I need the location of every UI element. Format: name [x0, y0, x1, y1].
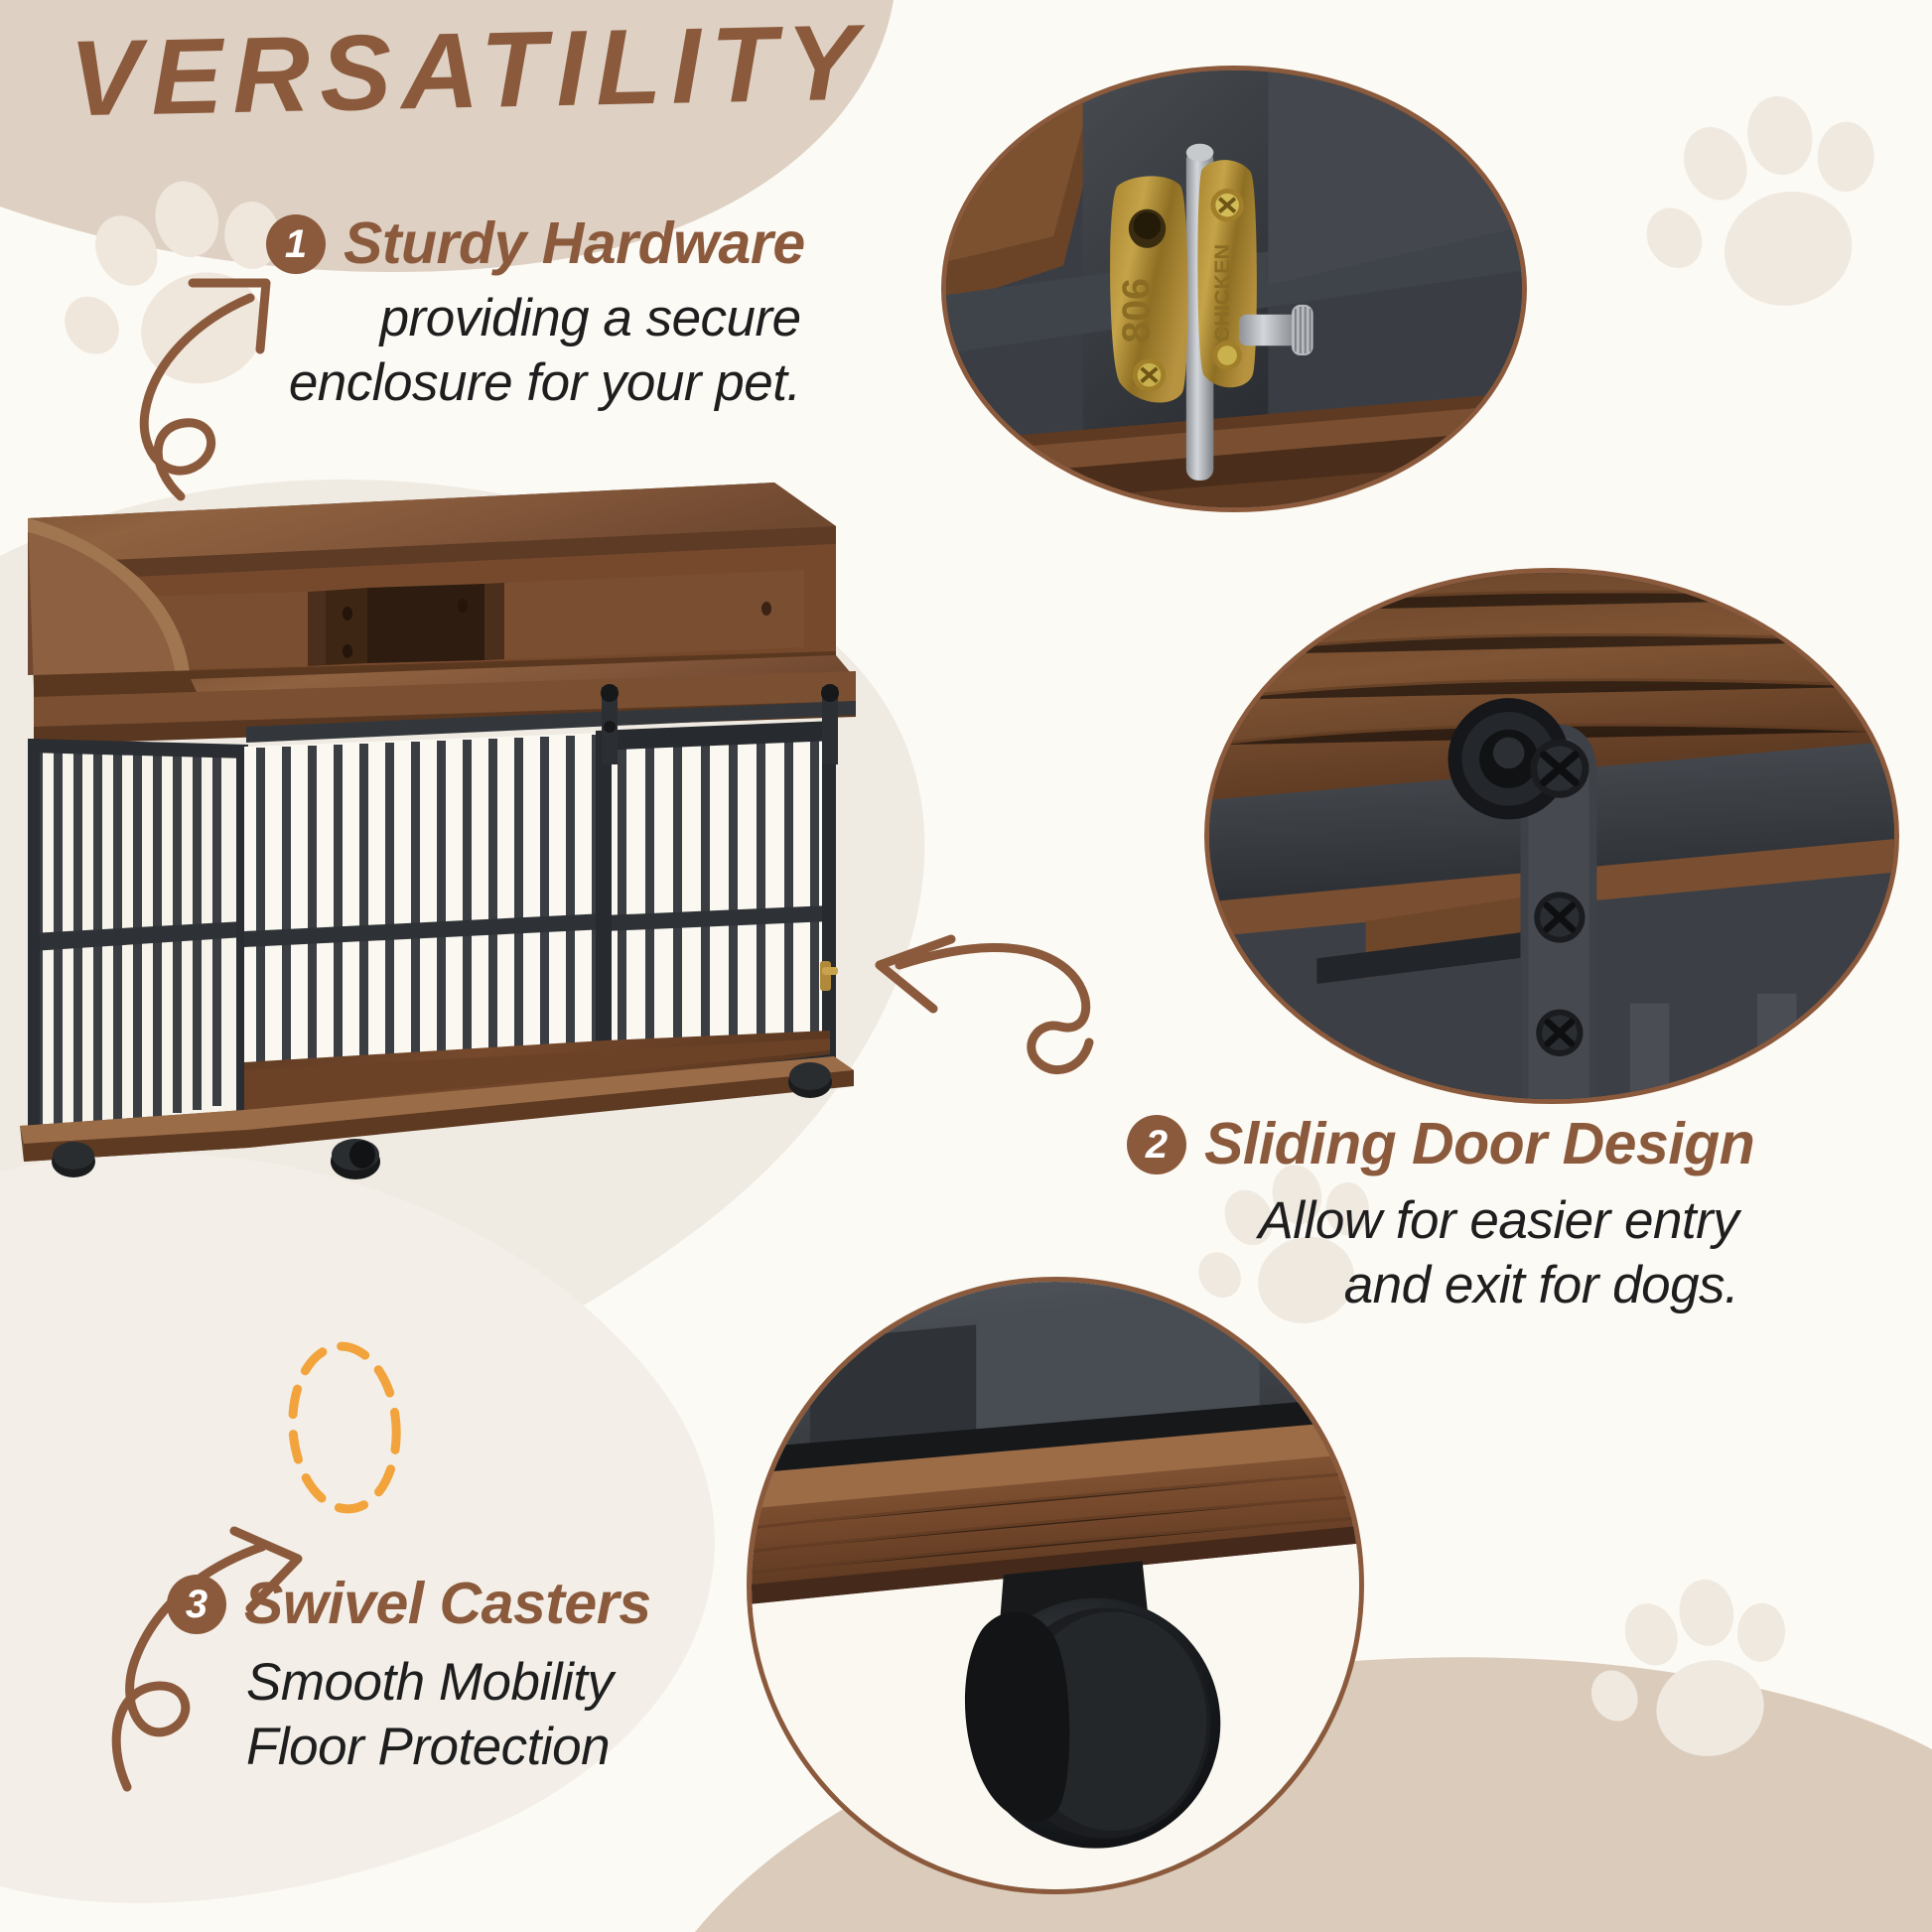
feature-block-3: 3 Swivel Casters Smooth Mobility Floor P… [167, 1574, 651, 1779]
feature-3-heading: 3 Swivel Casters [167, 1574, 651, 1635]
feature-1-body: providing a secure enclosure for your pe… [266, 287, 805, 415]
photo-sturdy-hardware: 806 CHICKEN [941, 66, 1527, 512]
feature-3-body-line-1: Smooth Mobility [246, 1651, 651, 1716]
feature-3-body: Smooth Mobility Floor Protection [167, 1651, 651, 1779]
photo-sliding-door [1204, 568, 1899, 1104]
roller-closeup-illustration [1209, 573, 1894, 1101]
caster-wheel [331, 1139, 380, 1179]
infographic-canvas: VERSATILITY 1 Sturdy Hardware providing … [0, 0, 1932, 1932]
caster-closeup-illustration [752, 1282, 1359, 1889]
product-image-dog-crate [10, 467, 864, 1191]
hinge-closeup-illustration: 806 CHICKEN [946, 70, 1522, 509]
page-title: VERSATILITY [69, 0, 869, 140]
feature-2-title: Sliding Door Design [1204, 1114, 1754, 1175]
feature-3-body-line-2: Floor Protection [246, 1716, 651, 1780]
caster-wheel [788, 1062, 832, 1098]
feature-3-number-badge: 3 [167, 1575, 226, 1634]
feature-2-heading: 2 Sliding Door Design [1127, 1114, 1754, 1175]
feature-3-title: Swivel Casters [244, 1574, 651, 1635]
svg-text:CHICKEN: CHICKEN [1209, 244, 1234, 342]
feature-1-body-line-2: enclosure for your pet. [266, 351, 801, 416]
arrow-to-sliding-door [880, 939, 1089, 1070]
svg-text:806: 806 [1114, 278, 1158, 344]
paw-print-icon [1621, 81, 1900, 332]
photo-swivel-caster [747, 1277, 1364, 1894]
feature-1-body-line-1: providing a secure [266, 287, 801, 351]
feature-block-1: 1 Sturdy Hardware providing a secure enc… [266, 213, 805, 415]
feature-1-title: Sturdy Hardware [344, 213, 805, 275]
feature-2-body-line-1: Allow for easier entry [1127, 1189, 1738, 1254]
feature-2-number-badge: 2 [1127, 1115, 1186, 1174]
feature-1-heading: 1 Sturdy Hardware [266, 213, 805, 275]
feature-1-number-badge: 1 [266, 214, 326, 274]
caster-wheel [52, 1142, 95, 1177]
